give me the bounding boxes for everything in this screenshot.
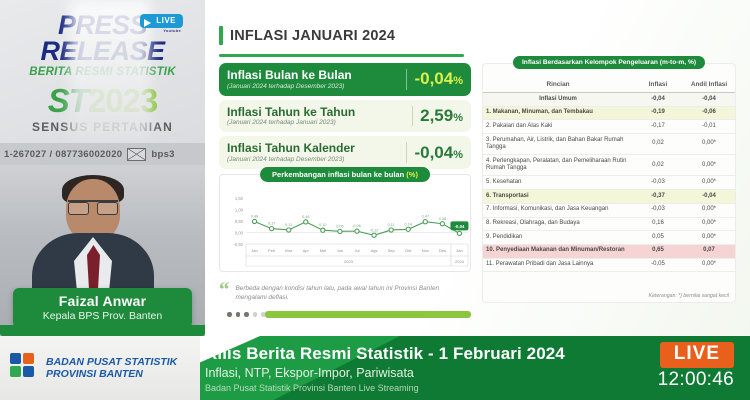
column-header-andil: Andil Inflasi — [683, 78, 735, 93]
row-label: 1. Makanan, Minuman, dan Tembakau — [483, 106, 633, 120]
table-row: 2. Pakaian dan Alas Kaki-0,17-0,01 — [483, 120, 735, 134]
kpi-unit: % — [453, 75, 463, 87]
row-label: 6. Transportasi — [483, 190, 633, 204]
quote-mark-icon: “ — [219, 281, 230, 303]
kpi-value: -0,04% — [414, 143, 463, 163]
table-row: 6. Transportasi-0,37-0,04 — [483, 190, 735, 204]
svg-text:0,11: 0,11 — [285, 223, 292, 227]
svg-text:Okt: Okt — [405, 248, 412, 253]
svg-text:Jun: Jun — [337, 248, 343, 253]
org-line-1: BADAN PUSAT STATISTIK — [46, 356, 177, 368]
chart-unit: (%) — [406, 170, 418, 179]
kpi-label: Inflasi Bulan ke Bulan — [227, 69, 399, 82]
svg-text:2024: 2024 — [455, 259, 465, 264]
svg-text:-0,50: -0,50 — [233, 242, 243, 247]
background-blur — [70, 0, 150, 140]
broadcast-title-block: Rilis Berita Resmi Statistik - 1 Februar… — [205, 344, 565, 393]
row-inflasi: 0,05 — [633, 231, 683, 245]
column-header-rincian: Rincian — [483, 78, 633, 93]
panel-accent-strip — [0, 325, 205, 336]
kpi-divider — [406, 69, 407, 90]
svg-text:Mar: Mar — [285, 248, 293, 253]
quote-block: “ Berbeda dengan kondisi tahun lalu, pad… — [219, 281, 471, 303]
svg-text:Jan: Jan — [456, 248, 462, 253]
kpi-unit: % — [453, 149, 463, 161]
kpi-card-calendar-year: Inflasi Tahun Kalender (Januari 2024 ter… — [219, 136, 471, 169]
broadcast-headline: Rilis Berita Resmi Statistik - 1 Februar… — [205, 344, 565, 364]
kpi-card-year-on-year: Inflasi Tahun ke Tahun (Januari 2024 ter… — [219, 100, 471, 133]
svg-text:Des: Des — [439, 248, 446, 253]
row-label: 4. Perlengkapan, Peralatan, dan Pemeliha… — [483, 155, 633, 176]
expenditure-group-table: Rincian Inflasi Andil Inflasi Inflasi Um… — [483, 78, 735, 272]
youtube-label: Youtube — [163, 28, 181, 33]
live-badge: LIVE — [660, 342, 734, 368]
svg-text:0,00: 0,00 — [235, 231, 244, 236]
svg-text:Jul: Jul — [354, 248, 359, 253]
table-row: 5. Kesehatan-0,030,00* — [483, 176, 735, 190]
row-andil: -0,06 — [683, 106, 735, 120]
pagination-dot[interactable] — [244, 312, 249, 317]
svg-text:Jan: Jan — [251, 248, 257, 253]
kpi-unit: % — [453, 112, 463, 124]
kpi-sublabel: (Januari 2024 terhadap Desember 2023) — [227, 83, 399, 90]
row-andil: 0,00* — [683, 231, 735, 245]
kpi-divider — [412, 106, 413, 127]
svg-text:Feb: Feb — [268, 248, 276, 253]
svg-text:0,38: 0,38 — [439, 217, 446, 221]
svg-text:Apr: Apr — [303, 248, 310, 253]
kpi-value: -0,04% — [414, 69, 463, 89]
row-inflasi: -0,04 — [633, 93, 683, 107]
row-label: 11. Perawatan Pribadi dan Jasa Lainnya — [483, 258, 633, 272]
chart-title: Perkembangan inflasi bulan ke bulan — [272, 170, 404, 179]
row-label: 7. Informasi, Komunikasi, dan Jasa Keuan… — [483, 203, 633, 217]
table-row: 9. Pendidikan0,050,00* — [483, 231, 735, 245]
svg-text:0,50: 0,50 — [235, 219, 244, 224]
kpi-number: -0,04 — [414, 143, 453, 162]
row-inflasi: 0,02 — [633, 134, 683, 155]
row-inflasi: 0,02 — [633, 155, 683, 176]
svg-text:0,05: 0,05 — [336, 224, 343, 228]
speaker-name: Faizal Anwar — [17, 293, 188, 309]
row-inflasi: -0,17 — [633, 120, 683, 134]
title-underline — [219, 54, 464, 57]
svg-text:0,47: 0,47 — [422, 215, 429, 219]
broadcast-clock: 12:00:46 — [658, 369, 734, 391]
table-head: Rincian Inflasi Andil Inflasi — [483, 78, 735, 93]
row-andil: 0,00* — [683, 203, 735, 217]
row-label: 3. Perumahan, Air, Listrik, dan Bahan Ba… — [483, 134, 633, 155]
svg-text:0,06: 0,06 — [353, 224, 360, 228]
svg-text:Ags: Ags — [371, 248, 378, 253]
row-andil: 0,00* — [683, 217, 735, 231]
table-row: 10. Penyediaan Makanan dan Minuman/Resto… — [483, 244, 735, 258]
title-accent-bar — [219, 26, 223, 45]
table-row: 7. Informasi, Komunikasi, dan Jasa Keuan… — [483, 203, 735, 217]
youtube-live-badge: LIVE — [140, 14, 183, 28]
speaker-name-plate: Faizal Anwar Kepala BPS Prov. Banten — [13, 288, 192, 328]
svg-text:0,48: 0,48 — [251, 214, 258, 218]
table-row: 1. Makanan, Minuman, dan Tembakau-0,19-0… — [483, 106, 735, 120]
broadcast-subhead: Inflasi, NTP, Ekspor-Impor, Pariwisata — [205, 366, 565, 380]
row-label: Inflasi Umum — [483, 93, 633, 107]
kpi-number: -0,04 — [414, 69, 453, 88]
svg-text:0,46: 0,46 — [302, 215, 309, 219]
row-label: 10. Penyediaan Makanan dan Minuman/Resto… — [483, 244, 633, 258]
envelope-icon — [127, 148, 146, 161]
kpi-label: Inflasi Tahun ke Tahun — [227, 106, 405, 119]
table-footnote: Keterangan: *) bernilai sangat kecil — [649, 293, 729, 299]
contact-bar: 1-267027 / 087736002020 bps3 — [0, 143, 205, 165]
logo-square-blue2 — [23, 366, 34, 377]
bps-org-name: BADAN PUSAT STATISTIK PROVINSI BANTEN — [46, 356, 177, 380]
row-andil: -0,01 — [683, 120, 735, 134]
speaker-video-feed: Faizal Anwar Kepala BPS Prov. Banten — [0, 165, 205, 336]
row-label: 5. Kesehatan — [483, 176, 633, 190]
contact-phone: 1-267027 / 087736002020 — [4, 149, 122, 160]
pagination-dot[interactable] — [236, 312, 241, 317]
row-andil: 0,00* — [683, 176, 735, 190]
pagination-dot[interactable] — [227, 312, 232, 317]
logo-square-orange — [23, 353, 34, 364]
table-row: 11. Perawatan Pribadi dan Jasa Lainnya-0… — [483, 258, 735, 272]
svg-text:0,11: 0,11 — [388, 223, 395, 227]
broadcast-ticker: Badan Pusat Statistik Provinsi Banten Li… — [205, 383, 565, 393]
presentation-screen: PRESS RELEASE BERITA RESMI STATISTIK LIV… — [0, 0, 750, 400]
column-header-inflasi: Inflasi — [633, 78, 683, 93]
svg-text:-0,12: -0,12 — [370, 228, 379, 232]
contact-handle: bps3 — [151, 149, 174, 160]
bottom-broadcast-bar: BADAN PUSAT STATISTIK PROVINSI BANTEN Ri… — [0, 336, 750, 400]
page-title: INFLASI JANUARI 2024 — [230, 28, 395, 44]
row-label: 8. Rekreasi, Olahraga, dan Budaya — [483, 217, 633, 231]
row-andil: 0,00* — [683, 258, 735, 272]
slide-title-group: INFLASI JANUARI 2024 — [219, 26, 395, 45]
glasses-icon — [68, 200, 118, 212]
slide-content: INFLASI JANUARI 2024 Inflasi Bulan ke Bu… — [205, 0, 750, 336]
kpi-label: Inflasi Tahun Kalender — [227, 142, 399, 155]
table-body: Inflasi Umum-0,04-0,041. Makanan, Minuma… — [483, 93, 735, 272]
table-title-pill: Inflasi Berdasarkan Kelompok Pengeluaran… — [513, 56, 705, 69]
slide-progress-bar — [265, 311, 471, 318]
svg-text:1,00: 1,00 — [235, 208, 244, 213]
svg-text:1,50: 1,50 — [235, 196, 244, 201]
row-label: 9. Pendidikan — [483, 231, 633, 245]
row-andil: 0,00* — [683, 134, 735, 155]
row-andil: -0,04 — [683, 93, 735, 107]
svg-text:Mei: Mei — [320, 248, 327, 253]
kpi-sublabel: (Januari 2024 terhadap Desember 2023) — [227, 156, 399, 163]
expenditure-group-table-card: Inflasi Berdasarkan Kelompok Pengeluaran… — [482, 63, 736, 303]
logo-square-blue — [10, 353, 21, 364]
svg-text:Sep: Sep — [388, 248, 396, 253]
left-branding-panel: PRESS RELEASE BERITA RESMI STATISTIK LIV… — [0, 0, 205, 336]
kpi-divider — [406, 142, 407, 163]
row-inflasi: 0,65 — [633, 244, 683, 258]
svg-text:2023: 2023 — [344, 259, 354, 264]
kpi-sublabel: (Januari 2024 terhadap Januari 2023) — [227, 119, 405, 126]
svg-text:0,17: 0,17 — [268, 222, 275, 226]
table-row-total: Inflasi Umum-0,04-0,04 — [483, 93, 735, 107]
bps-logo-icon — [10, 353, 40, 383]
row-inflasi: -0,37 — [633, 190, 683, 204]
svg-text:0,14: 0,14 — [405, 222, 412, 226]
quote-text: Berbeda dengan kondisi tahun lalu, pada … — [236, 281, 472, 303]
kpi-number: 2,59 — [420, 106, 453, 125]
logo-square-green — [10, 366, 21, 377]
row-andil: 0,07 — [683, 244, 735, 258]
table-header-row: Rincian Inflasi Andil Inflasi — [483, 78, 735, 93]
row-andil: 0,00* — [683, 155, 735, 176]
bps-branding-block: BADAN PUSAT STATISTIK PROVINSI BANTEN — [0, 336, 200, 400]
svg-text:0,10: 0,10 — [319, 223, 326, 227]
svg-text:Nov: Nov — [422, 248, 429, 253]
table-row: 8. Rekreasi, Olahraga, dan Budaya0,160,0… — [483, 217, 735, 231]
row-inflasi: -0,19 — [633, 106, 683, 120]
kpi-card-month-to-month: Inflasi Bulan ke Bulan (Januari 2024 ter… — [219, 63, 471, 96]
table-row: 4. Perlengkapan, Peralatan, dan Pemeliha… — [483, 155, 735, 176]
chart-title-pill: Perkembangan inflasi bulan ke bulan (%) — [260, 167, 430, 182]
row-inflasi: -0,03 — [633, 176, 683, 190]
table-row: 3. Perumahan, Air, Listrik, dan Bahan Ba… — [483, 134, 735, 155]
row-label: 2. Pakaian dan Alas Kaki — [483, 120, 633, 134]
row-inflasi: -0,05 — [633, 258, 683, 272]
row-andil: -0,04 — [683, 190, 735, 204]
kpi-card-list: Inflasi Bulan ke Bulan (Januari 2024 ter… — [219, 63, 471, 173]
pagination-dot[interactable] — [253, 312, 258, 317]
row-inflasi: -0,03 — [633, 203, 683, 217]
chart-canvas: 1,501,000,500,00-0,50JanFebMarAprMeiJunJ… — [220, 186, 472, 272]
speaker-role: Kepala BPS Prov. Banten — [17, 310, 188, 322]
org-line-2: PROVINSI BANTEN — [46, 368, 177, 380]
inflation-trend-chart: Perkembangan inflasi bulan ke bulan (%) … — [219, 174, 471, 272]
kpi-value: 2,59% — [420, 106, 463, 126]
row-inflasi: 0,16 — [633, 217, 683, 231]
svg-text:-0,04: -0,04 — [454, 224, 465, 229]
